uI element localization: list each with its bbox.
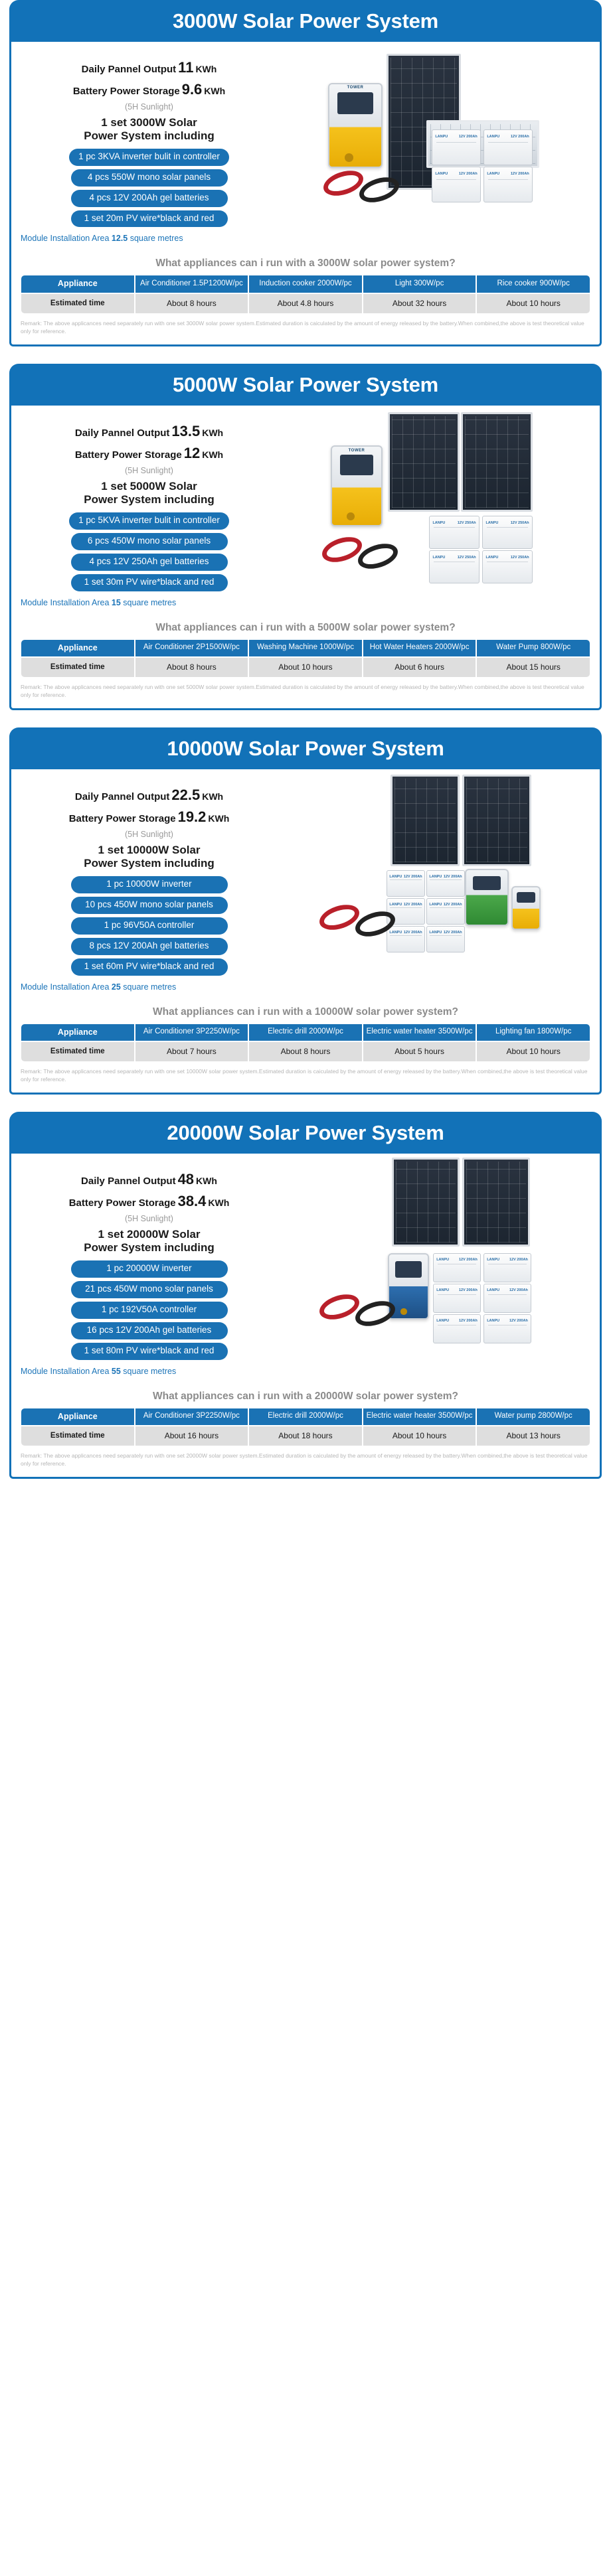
block-body: Daily Pannel Output11KWh Battery Power S… bbox=[9, 42, 602, 346]
set-title-line-2: Power System including bbox=[11, 857, 287, 870]
block-header: 5000W Solar Power System bbox=[9, 364, 602, 406]
battery-image: LANPU12V 250Ah bbox=[482, 550, 533, 583]
daily-output-value: 11 bbox=[176, 59, 195, 76]
remark-text: Remark: The above applicances need separ… bbox=[21, 684, 590, 699]
module-area-prefix: Module Installation Area bbox=[21, 1367, 109, 1376]
battery-image: LANPU12V 250Ah bbox=[429, 550, 480, 583]
table-header-row: Appliance Air Conditioner 3P2250W/pc Ele… bbox=[21, 1023, 590, 1042]
battery-storage-line: Battery Power Storage9.6KWh bbox=[11, 78, 287, 100]
battery-storage-label: Battery Power Storage bbox=[73, 86, 180, 97]
battery-image: LANPU12V 200Ah bbox=[433, 1253, 481, 1282]
remark-text: Remark: The above applicances need separ… bbox=[21, 320, 590, 335]
battery-image: LANPU12V 200Ah bbox=[387, 926, 425, 952]
component-pill: 1 pc 3KVA inverter bulit in controller bbox=[69, 149, 229, 166]
battery-storage-line: Battery Power Storage19.2KWh bbox=[11, 806, 287, 828]
inverter-knob bbox=[347, 512, 355, 520]
block-header: 3000W Solar Power System bbox=[9, 0, 602, 42]
battery-storage-label: Battery Power Storage bbox=[69, 1197, 176, 1209]
daily-output-label: Daily Pannel Output bbox=[82, 64, 177, 75]
estimated-time-cell: About 6 hours bbox=[363, 657, 477, 678]
set-title: 1 set 20000W Solar Power System includin… bbox=[11, 1228, 287, 1254]
sunlight-note: (5H Sunlight) bbox=[11, 102, 287, 112]
component-pill: 4 pcs 12V 250Ah gel batteries bbox=[71, 554, 228, 571]
battery-storage-line: Battery Power Storage38.4KWh bbox=[11, 1190, 287, 1212]
component-pill: 1 pc 10000W inverter bbox=[71, 876, 228, 893]
estimated-time-cell: About 5 hours bbox=[363, 1041, 477, 1062]
appliance-name-cell: Air Conditioner 3P2250W/pc bbox=[135, 1408, 249, 1426]
daily-output-label: Daily Pannel Output bbox=[81, 1175, 176, 1187]
inverter-screen bbox=[337, 92, 373, 114]
system-block: 5000W Solar Power System Daily Pannel Ou… bbox=[9, 364, 602, 710]
set-title-line-2: Power System including bbox=[11, 1241, 287, 1254]
remark-text: Remark: The above applicances need separ… bbox=[21, 1452, 590, 1468]
module-area-prefix: Module Installation Area bbox=[21, 598, 109, 607]
estimated-time-cell: About 10 hours bbox=[363, 1426, 477, 1446]
battery-image: LANPU12V 200Ah bbox=[433, 1284, 481, 1313]
estimated-time-cell: About 4.8 hours bbox=[248, 293, 363, 314]
product-image-column: LANPU12V 200Ah LANPU12V 200Ah LANPU12V 2… bbox=[287, 1154, 600, 1381]
set-title-line-2: Power System including bbox=[11, 493, 287, 506]
module-area-value: 55 bbox=[112, 1367, 121, 1376]
estimated-time-cell: About 15 hours bbox=[476, 657, 590, 678]
set-title: 1 set 3000W Solar Power System including bbox=[11, 116, 287, 143]
component-pill: 16 pcs 12V 200Ah gel batteries bbox=[71, 1322, 228, 1339]
spec-column: Daily Pannel Output48KWh Battery Power S… bbox=[11, 1154, 287, 1381]
battery-storage-value: 12 bbox=[182, 445, 202, 461]
component-pill: 1 pc 96V50A controller bbox=[71, 917, 228, 935]
appliance-name-cell: Air Conditioner 1.5P1200W/pc bbox=[135, 275, 249, 293]
table-row: Estimated time About 16 hours About 18 h… bbox=[21, 1426, 590, 1446]
appliance-name-cell: Electric water heater 3500W/pc bbox=[363, 1023, 477, 1042]
daily-output-label: Daily Pannel Output bbox=[75, 791, 170, 802]
battery-image: LANPU12V 200Ah bbox=[426, 926, 465, 952]
battery-image: LANPU12V 200Ah bbox=[426, 870, 465, 897]
battery-storage-unit: KWh bbox=[208, 813, 229, 824]
battery-image: LANPU12V 200Ah bbox=[483, 1284, 531, 1313]
spec-column: Daily Pannel Output13.5KWh Battery Power… bbox=[11, 406, 287, 612]
daily-output-line: Daily Pannel Output48KWh bbox=[11, 1168, 287, 1190]
page-title: 5000W Solar Power System bbox=[9, 373, 602, 397]
component-pill: 1 pc 5KVA inverter bulit in controller bbox=[69, 512, 229, 530]
block-body: Daily Pannel Output22.5KWh Battery Power… bbox=[9, 769, 602, 1095]
component-list: 1 pc 20000W inverter 21 pcs 450W mono so… bbox=[11, 1260, 287, 1359]
daily-output-value: 48 bbox=[176, 1171, 196, 1187]
component-pill: 4 pcs 12V 200Ah gel batteries bbox=[71, 190, 228, 207]
component-pill: 4 pcs 550W mono solar panels bbox=[71, 169, 228, 187]
module-installation-area: Module Installation Area 55 square metre… bbox=[21, 1367, 287, 1376]
battery-image: LANPU12V 200Ah bbox=[387, 870, 425, 897]
spec-row: Daily Pannel Output11KWh Battery Power S… bbox=[11, 42, 600, 248]
battery-image: LANPU12V 250Ah bbox=[429, 516, 480, 549]
appliance-name-cell: Rice cooker 900W/pc bbox=[476, 275, 590, 293]
battery-image: LANPU12V 200Ah bbox=[483, 167, 533, 202]
component-pill: 8 pcs 12V 200Ah gel batteries bbox=[71, 938, 228, 955]
battery-image: LANPU12V 200Ah bbox=[433, 1314, 481, 1343]
block-header: 20000W Solar Power System bbox=[9, 1112, 602, 1154]
appliance-name-cell: Electric drill 2000W/pc bbox=[248, 1408, 363, 1426]
battery-storage-value: 19.2 bbox=[176, 808, 209, 825]
product-photo-5000w: TOWER LANPU12V 250Ah LANPU12V 250Ah LANP… bbox=[287, 406, 600, 612]
solar-panel-image bbox=[461, 412, 533, 512]
inverter-screen bbox=[340, 455, 373, 475]
inverter-knob bbox=[400, 1308, 406, 1314]
battery-storage-label: Battery Power Storage bbox=[75, 449, 182, 461]
estimated-time-cell: About 18 hours bbox=[248, 1426, 363, 1446]
solar-panel-image bbox=[462, 775, 531, 866]
appliance-name-cell: Light 300W/pc bbox=[363, 275, 477, 293]
product-image-column: TOWER LANPU12V 200Ah LANPU12V 200Ah LANP… bbox=[287, 42, 600, 248]
set-title: 1 set 5000W Solar Power System including bbox=[11, 480, 287, 506]
page-title: 10000W Solar Power System bbox=[9, 737, 602, 761]
daily-output-value: 22.5 bbox=[169, 787, 202, 803]
appliance-table: Appliance Air Conditioner 3P2250W/pc Ele… bbox=[21, 1408, 590, 1447]
appliance-name-cell: Electric drill 2000W/pc bbox=[248, 1023, 363, 1042]
sunlight-note: (5H Sunlight) bbox=[11, 1214, 287, 1223]
battery-storage-unit: KWh bbox=[202, 449, 223, 460]
inverter-screen bbox=[473, 876, 501, 890]
controller-screen bbox=[517, 892, 535, 903]
table-header-row: Appliance Air Conditioner 3P2250W/pc Ele… bbox=[21, 1408, 590, 1426]
system-block: 20000W Solar Power System Daily Pannel O… bbox=[9, 1112, 602, 1479]
component-pill: 1 pc 192V50A controller bbox=[71, 1302, 228, 1319]
battery-image: LANPU12V 200Ah bbox=[483, 129, 533, 165]
appliance-table: Appliance Air Conditioner 3P2250W/pc Ele… bbox=[21, 1023, 590, 1063]
spec-column: Daily Pannel Output11KWh Battery Power S… bbox=[11, 42, 287, 248]
page-title: 3000W Solar Power System bbox=[9, 9, 602, 33]
inverter-image: TOWER bbox=[331, 445, 383, 526]
estimated-time-cell: About 8 hours bbox=[135, 293, 249, 314]
estimated-time-cell: About 7 hours bbox=[135, 1041, 249, 1062]
battery-storage-label: Battery Power Storage bbox=[69, 813, 176, 824]
appliance-table: Appliance Air Conditioner 1.5P1200W/pc I… bbox=[21, 275, 590, 314]
daily-output-unit: KWh bbox=[195, 64, 217, 74]
sunlight-note: (5H Sunlight) bbox=[11, 830, 287, 839]
block-header: 10000W Solar Power System bbox=[9, 727, 602, 769]
appliance-question: What appliances can i run with a 10000W … bbox=[11, 1006, 600, 1018]
module-area-suffix: square metres bbox=[123, 1367, 176, 1376]
component-pill: 21 pcs 450W mono solar panels bbox=[71, 1281, 228, 1298]
battery-storage-value: 38.4 bbox=[176, 1193, 209, 1209]
inverter-knob bbox=[345, 153, 353, 161]
battery-image: LANPU12V 200Ah bbox=[426, 898, 465, 925]
module-area-suffix: square metres bbox=[123, 598, 176, 607]
table-row: Estimated time About 8 hours About 4.8 h… bbox=[21, 293, 590, 314]
estimated-time-cell: About 10 hours bbox=[476, 1041, 590, 1062]
appliance-name-cell: Hot Water Heaters 2000W/pc bbox=[363, 639, 477, 658]
estimated-time-cell: About 8 hours bbox=[248, 1041, 363, 1062]
inverter-image bbox=[465, 869, 509, 926]
estimated-time-cell: About 8 hours bbox=[135, 657, 249, 678]
spec-column: Daily Pannel Output22.5KWh Battery Power… bbox=[11, 769, 287, 996]
table-header-row: Appliance Air Conditioner 2P1500W/pc Was… bbox=[21, 639, 590, 658]
daily-output-value: 13.5 bbox=[169, 423, 202, 439]
remark-text: Remark: The above applicances need separ… bbox=[21, 1068, 590, 1083]
table-row: Estimated time About 8 hours About 10 ho… bbox=[21, 657, 590, 678]
set-title-line-1: 1 set 10000W Solar bbox=[11, 844, 287, 857]
battery-storage-unit: KWh bbox=[208, 1197, 229, 1208]
component-pill: 6 pcs 450W mono solar panels bbox=[71, 533, 228, 550]
battery-storage-value: 9.6 bbox=[180, 81, 205, 98]
component-pill: 1 set 20m PV wire*black and red bbox=[71, 210, 228, 228]
appliance-name-cell: Water pump 2800W/pc bbox=[476, 1408, 590, 1426]
product-image-column: LANPU12V 200Ah LANPU12V 200Ah LANPU12V 2… bbox=[287, 769, 600, 996]
spec-row: Daily Pannel Output13.5KWh Battery Power… bbox=[11, 406, 600, 612]
inverter-brand-label: TOWER bbox=[329, 86, 381, 90]
product-photo-3000w: TOWER LANPU12V 200Ah LANPU12V 200Ah LANP… bbox=[287, 42, 600, 248]
component-list: 1 pc 3KVA inverter bulit in controller 4… bbox=[11, 149, 287, 227]
appliance-name-cell: Air Conditioner 3P2250W/pc bbox=[135, 1023, 249, 1042]
product-photo-10000w: LANPU12V 200Ah LANPU12V 200Ah LANPU12V 2… bbox=[287, 769, 600, 996]
module-area-value: 25 bbox=[112, 982, 121, 992]
appliance-question: What appliances can i run with a 5000W s… bbox=[11, 622, 600, 634]
component-pill: 1 pc 20000W inverter bbox=[71, 1260, 228, 1278]
module-area-suffix: square metres bbox=[130, 234, 183, 243]
set-title-line-1: 1 set 20000W Solar bbox=[11, 1228, 287, 1241]
page-title: 20000W Solar Power System bbox=[9, 1121, 602, 1145]
daily-output-line: Daily Pannel Output22.5KWh bbox=[11, 784, 287, 806]
product-photo-20000w: LANPU12V 200Ah LANPU12V 200Ah LANPU12V 2… bbox=[287, 1154, 600, 1381]
table-row: Estimated time About 7 hours About 8 hou… bbox=[21, 1041, 590, 1062]
estimated-time-header-cell: Estimated time bbox=[21, 1041, 135, 1062]
appliance-table: Appliance Air Conditioner 2P1500W/pc Was… bbox=[21, 639, 590, 678]
component-pill: 10 pcs 450W mono solar panels bbox=[71, 897, 228, 914]
solar-panel-image bbox=[388, 412, 460, 512]
appliance-name-cell: Water Pump 800W/pc bbox=[476, 639, 590, 658]
appliance-name-cell: Washing Machine 1000W/pc bbox=[248, 639, 363, 658]
solar-panel-image bbox=[391, 775, 460, 866]
inverter-image: TOWER bbox=[328, 83, 383, 168]
battery-image: LANPU12V 250Ah bbox=[482, 516, 533, 549]
appliance-header-cell: Appliance bbox=[21, 1408, 135, 1426]
daily-output-unit: KWh bbox=[202, 791, 223, 802]
solar-panel-image bbox=[392, 1158, 460, 1247]
module-area-value: 12.5 bbox=[112, 234, 128, 243]
appliance-name-cell: Air Conditioner 2P1500W/pc bbox=[135, 639, 249, 658]
module-area-value: 15 bbox=[112, 598, 121, 607]
sunlight-note: (5H Sunlight) bbox=[11, 466, 287, 475]
daily-output-line: Daily Pannel Output13.5KWh bbox=[11, 420, 287, 442]
appliance-name-cell: Induction cooker 2000W/pc bbox=[248, 275, 363, 293]
daily-output-unit: KWh bbox=[202, 427, 223, 438]
inverter-brand-label: TOWER bbox=[332, 449, 381, 453]
spec-row: Daily Pannel Output22.5KWh Battery Power… bbox=[11, 769, 600, 996]
appliance-question: What appliances can i run with a 20000W … bbox=[11, 1391, 600, 1402]
estimated-time-cell: About 32 hours bbox=[363, 293, 477, 314]
system-block: 10000W Solar Power System Daily Pannel O… bbox=[9, 727, 602, 1095]
estimated-time-header-cell: Estimated time bbox=[21, 657, 135, 678]
table-header-row: Appliance Air Conditioner 1.5P1200W/pc I… bbox=[21, 275, 590, 293]
appliance-header-cell: Appliance bbox=[21, 639, 135, 658]
block-body: Daily Pannel Output48KWh Battery Power S… bbox=[9, 1154, 602, 1479]
battery-image: LANPU12V 200Ah bbox=[432, 129, 481, 165]
estimated-time-header-cell: Estimated time bbox=[21, 293, 135, 314]
module-area-prefix: Module Installation Area bbox=[21, 234, 109, 243]
component-list: 1 pc 10000W inverter 10 pcs 450W mono so… bbox=[11, 876, 287, 975]
estimated-time-header-cell: Estimated time bbox=[21, 1426, 135, 1446]
component-pill: 1 set 60m PV wire*black and red bbox=[71, 958, 228, 976]
module-area-prefix: Module Installation Area bbox=[21, 982, 109, 992]
inverter-screen bbox=[395, 1261, 421, 1278]
product-spec-page: 3000W Solar Power System Daily Pannel Ou… bbox=[0, 0, 611, 1479]
battery-image: LANPU12V 200Ah bbox=[483, 1314, 531, 1343]
solar-panel-image bbox=[462, 1158, 530, 1247]
daily-output-line: Daily Pannel Output11KWh bbox=[11, 56, 287, 78]
daily-output-unit: KWh bbox=[196, 1175, 217, 1186]
set-title: 1 set 10000W Solar Power System includin… bbox=[11, 844, 287, 870]
block-body: Daily Pannel Output13.5KWh Battery Power… bbox=[9, 406, 602, 710]
component-pill: 1 set 30m PV wire*black and red bbox=[71, 574, 228, 591]
spec-row: Daily Pannel Output48KWh Battery Power S… bbox=[11, 1154, 600, 1381]
module-installation-area: Module Installation Area 25 square metre… bbox=[21, 982, 287, 992]
system-block: 3000W Solar Power System Daily Pannel Ou… bbox=[9, 0, 602, 346]
appliance-name-cell: Lighting fan 1800W/pc bbox=[476, 1023, 590, 1042]
estimated-time-cell: About 16 hours bbox=[135, 1426, 249, 1446]
estimated-time-cell: About 10 hours bbox=[476, 293, 590, 314]
set-title-line-2: Power System including bbox=[11, 129, 287, 143]
appliance-name-cell: Electric water heater 3500W/pc bbox=[363, 1408, 477, 1426]
appliance-header-cell: Appliance bbox=[21, 275, 135, 293]
estimated-time-cell: About 13 hours bbox=[476, 1426, 590, 1446]
battery-image: LANPU12V 200Ah bbox=[432, 167, 481, 202]
module-area-suffix: square metres bbox=[123, 982, 176, 992]
battery-storage-line: Battery Power Storage12KWh bbox=[11, 442, 287, 464]
appliance-header-cell: Appliance bbox=[21, 1023, 135, 1042]
set-title-line-1: 1 set 5000W Solar bbox=[11, 480, 287, 493]
battery-storage-unit: KWh bbox=[204, 86, 225, 96]
battery-image: LANPU12V 200Ah bbox=[483, 1253, 531, 1282]
set-title-line-1: 1 set 3000W Solar bbox=[11, 116, 287, 129]
controller-image bbox=[511, 886, 541, 930]
daily-output-label: Daily Pannel Output bbox=[75, 427, 170, 439]
module-installation-area: Module Installation Area 12.5 square met… bbox=[21, 234, 287, 243]
appliance-question: What appliances can i run with a 3000W s… bbox=[11, 258, 600, 269]
module-installation-area: Module Installation Area 15 square metre… bbox=[21, 598, 287, 607]
component-pill: 1 set 80m PV wire*black and red bbox=[71, 1343, 228, 1360]
product-image-column: TOWER LANPU12V 250Ah LANPU12V 250Ah LANP… bbox=[287, 406, 600, 612]
estimated-time-cell: About 10 hours bbox=[248, 657, 363, 678]
component-list: 1 pc 5KVA inverter bulit in controller 6… bbox=[11, 512, 287, 591]
